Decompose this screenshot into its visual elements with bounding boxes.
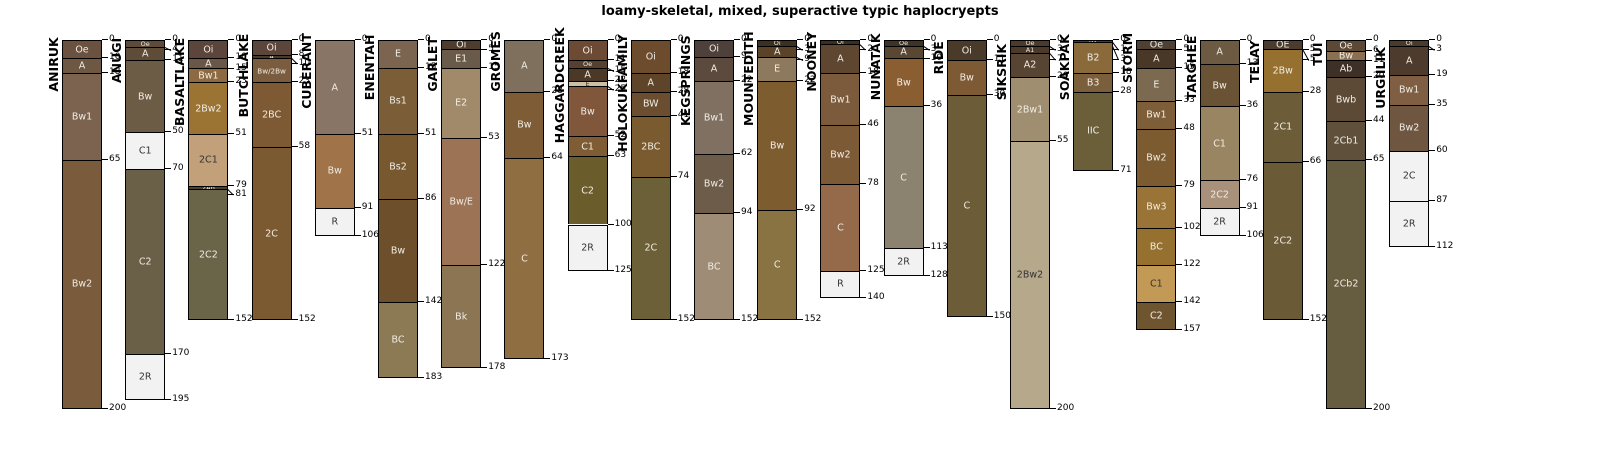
soil-horizon: Bk (441, 265, 481, 368)
depth-tick: 66 (1303, 157, 1321, 166)
depth-tick: 122 (1176, 260, 1200, 269)
horizon-label: E (758, 64, 796, 75)
soil-horizon: 2C (1389, 151, 1429, 201)
horizon-label: Oe (1327, 41, 1365, 52)
horizon-label: Oe (1137, 40, 1175, 49)
soil-horizon: R (315, 208, 355, 236)
horizon-label: C2 (126, 256, 164, 267)
soil-horizon: Bw2 (820, 125, 860, 184)
depth-tick: 70 (165, 164, 183, 173)
depth-tick: 62 (734, 149, 752, 158)
depth-tick: 150 (987, 312, 1011, 321)
horizon-label: Bw1 (1390, 85, 1428, 96)
horizon-label: 2Cb1 (1327, 136, 1365, 147)
soil-horizon: Bw1 (1136, 101, 1176, 129)
depth-tick: 71 (1113, 166, 1131, 175)
depth-tick: 36 (924, 101, 942, 110)
horizon-label: 2Bw2 (189, 103, 227, 114)
depth-tick: 128 (924, 271, 948, 280)
soil-horizon: A (631, 73, 671, 91)
depth-tick: 92 (797, 205, 815, 214)
horizon-label: Bw (758, 140, 796, 151)
profile-name-label: TUI (1310, 36, 1325, 66)
horizon-label: 2R (885, 257, 923, 268)
soil-horizon: Bw (504, 92, 544, 158)
soil-horizon: Oe (1136, 40, 1176, 49)
horizon-label: C1 (1137, 279, 1175, 290)
horizon-label: 2R (569, 242, 607, 253)
horizon-label: Bw2 (1390, 123, 1428, 134)
depth-tick: 142 (1176, 297, 1200, 306)
horizon-label: A (1137, 53, 1175, 64)
soil-horizon: C (884, 106, 924, 248)
horizon-label: A (569, 69, 607, 80)
soil-horizon: Bw2 (1389, 105, 1429, 151)
soil-horizon: 2C2 (1200, 180, 1240, 208)
soil-horizon: B3 (1073, 73, 1113, 91)
profile-name-label: KEGSPRINGS (678, 36, 693, 126)
profile-name-label: TELAY (1247, 36, 1262, 83)
soil-horizon: Bw2 (694, 154, 734, 213)
soil-horizon: 2C1 (1263, 92, 1303, 162)
soil-horizon: 2C1 (188, 134, 228, 186)
horizon-label: Oi (189, 44, 227, 55)
depth-tick: 36 (1240, 101, 1258, 110)
soil-horizon: Bw1 (188, 68, 228, 83)
soil-profile-plot: ANIRUKOeABw1Bw20101865200ANUGIOeABwC1C22… (0, 0, 1600, 450)
profile-name-label: SOAKPAK (1057, 36, 1072, 100)
depth-tick: 79 (228, 181, 246, 190)
horizon-label: Oe (569, 60, 607, 67)
horizon-label: A1 (1011, 46, 1049, 53)
soil-horizon: IIC (1073, 92, 1113, 171)
soil-horizon: Bw/E (441, 138, 481, 265)
soil-horizon: Bw2 (62, 160, 102, 409)
depth-tick: 28 (1303, 87, 1321, 96)
horizon-label: Oi (632, 52, 670, 63)
soil-horizon: 2Cb1 (1326, 121, 1366, 160)
horizon-label: Oi (695, 43, 733, 54)
horizon-label: OE (1264, 40, 1302, 49)
horizon-label: A (126, 49, 164, 60)
horizon-label: Oe (126, 40, 164, 47)
soil-horizon: B2 (1073, 42, 1113, 73)
horizon-label: C1 (569, 141, 607, 152)
depth-tick: 60 (1429, 146, 1447, 155)
soil-horizon: Bw1 (62, 73, 102, 160)
horizon-label: C (885, 172, 923, 183)
horizon-label: Bwb (1327, 94, 1365, 105)
horizon-label: Bw2 (695, 179, 733, 190)
soil-horizon: Oi (441, 40, 481, 49)
horizon-label: Bw (885, 77, 923, 88)
horizon-label: Bw2 (821, 149, 859, 160)
horizon-label: Bw (316, 166, 354, 177)
depth-tick: 53 (481, 133, 499, 142)
horizon-label: Bw (1327, 51, 1365, 60)
horizon-label: Bw (505, 120, 543, 131)
soil-horizon: Bwb (1326, 77, 1366, 121)
profile-name-label: NUNATAK (868, 36, 883, 100)
soil-horizon: 2R (1389, 201, 1429, 247)
horizon-label: 2Bw (1264, 65, 1302, 76)
soil-horizon: Bw/2Bw (252, 58, 292, 82)
depth-tick: 51 (228, 129, 246, 138)
soil-horizon: BW (631, 92, 671, 116)
soil-horizon: 2Bw (1263, 49, 1303, 91)
soil-horizon: C2 (1136, 302, 1176, 330)
horizon-label: 2R (1201, 216, 1239, 227)
depth-tick: 74 (671, 172, 689, 181)
soil-horizon: E1 (441, 49, 481, 67)
horizon-label: 2Bw2 (1011, 270, 1049, 281)
soil-horizon: Oi (947, 40, 987, 60)
horizon-label: 2R (126, 371, 164, 382)
depth-tick: 35 (1429, 100, 1447, 109)
depth-tick: 122 (481, 260, 505, 269)
profile-name-label: HOLOKUKFAMILY (615, 36, 630, 152)
depth-tick: 86 (418, 194, 436, 203)
soil-horizon: A (884, 46, 924, 59)
soil-horizon: C2 (568, 156, 608, 224)
soil-horizon: Bw2 (1136, 129, 1176, 186)
soil-horizon: 2R (884, 248, 924, 276)
horizon-label: A (821, 53, 859, 64)
depth-tick: 28 (1113, 87, 1131, 96)
depth-tick: 51 (355, 129, 373, 138)
horizon-label: Bw (948, 73, 986, 84)
soil-horizon: A (757, 46, 797, 57)
horizon-label: 2C (632, 243, 670, 254)
profile-name-label: GROMES (488, 36, 503, 92)
soil-horizon: A (62, 58, 102, 73)
horizon-label: C2 (1137, 310, 1175, 321)
depth-tick: 173 (544, 354, 568, 363)
profile-name-label: CUBERANT (299, 36, 314, 109)
horizon-label: C (505, 253, 543, 264)
soil-horizon: C1 (125, 132, 165, 169)
depth-tick: 79 (1176, 181, 1194, 190)
depth-tick: 152 (797, 315, 821, 324)
profile-name-label: ANUGI (109, 36, 124, 83)
horizon-label: Oi (948, 45, 986, 56)
horizon-label: E (1137, 79, 1175, 90)
horizon-label: R (821, 279, 859, 290)
depth-tick: 65 (1366, 155, 1384, 164)
soil-horizon: A (694, 57, 734, 81)
soil-horizon: 2BC (252, 82, 292, 147)
soil-horizon: BC (694, 213, 734, 320)
soil-horizon: 2BC (631, 116, 671, 177)
soil-horizon: C (757, 210, 797, 321)
soil-horizon: Bw (378, 199, 418, 302)
soil-horizon: Oi (568, 40, 608, 60)
depth-tick: 46 (860, 120, 878, 129)
horizon-label: C2 (569, 185, 607, 196)
soil-horizon: R (820, 271, 860, 299)
soil-horizon: C (820, 184, 860, 271)
depth-tick: 48 (1176, 124, 1194, 133)
soil-horizon: Oi (252, 40, 292, 55)
depth-tick: 87 (1429, 196, 1447, 205)
soil-horizon: Bw (315, 134, 355, 208)
horizon-label: A (1201, 47, 1239, 58)
profile-name-label: STORM (1120, 36, 1135, 83)
soil-horizon: E (378, 40, 418, 68)
horizon-label: C (758, 260, 796, 271)
horizon-label: E1 (442, 53, 480, 64)
depth-tick: 157 (1176, 325, 1200, 334)
horizon-label: Bw/E (442, 196, 480, 207)
horizon-label: Bs1 (379, 96, 417, 107)
depth-tick: 112 (1429, 242, 1453, 251)
soil-horizon: Bw1 (820, 73, 860, 125)
depth-tick: 63 (608, 151, 626, 160)
profile-name-label: BASALTLAKE (172, 36, 187, 126)
soil-horizon: Bw (947, 60, 987, 95)
soil-horizon: E2 (441, 68, 481, 138)
depth-tick: 91 (355, 203, 373, 212)
depth-tick: 125 (860, 266, 884, 275)
profile-name-label: MOUNTEDITH (741, 36, 756, 126)
horizon-label: Bw1 (1137, 110, 1175, 121)
soil-horizon: C2 (125, 169, 165, 354)
horizon-label: B2 (1074, 53, 1112, 64)
soil-horizon: 2R (125, 354, 165, 400)
soil-horizon: BC (378, 302, 418, 378)
profile-name-label: URGIILIK (1373, 36, 1388, 109)
soil-horizon: Oi (631, 40, 671, 73)
horizon-label: BC (695, 261, 733, 272)
depth-tick: 51 (418, 129, 436, 138)
depth-tick: 94 (734, 208, 752, 217)
horizon-label: Bw1 (695, 112, 733, 123)
horizon-label: Bw (569, 106, 607, 117)
horizon-label: Oi (442, 40, 480, 49)
depth-tick: 152 (292, 315, 316, 324)
depth-tick: 152 (671, 315, 695, 324)
soil-horizon: A (568, 68, 608, 81)
depth-tick: 106 (1240, 231, 1264, 240)
depth-tick: 44 (1366, 116, 1384, 125)
horizon-label: 2C (1390, 171, 1428, 182)
soil-horizon: 2Bw1 (1010, 77, 1050, 142)
horizon-label: Ab (1327, 64, 1365, 75)
soil-horizon: Bw (568, 86, 608, 136)
horizon-label: Bw1 (821, 94, 859, 105)
depth-tick: 142 (418, 297, 442, 306)
soil-horizon: A (1136, 49, 1176, 67)
horizon-label: 2Bw1 (1011, 104, 1049, 115)
horizon-label: Bk (442, 311, 480, 322)
horizon-label: Bw (379, 245, 417, 256)
soil-horizon: 2C (252, 147, 292, 320)
depth-tick: 0 (1429, 35, 1442, 44)
depth-tick: 125 (608, 266, 632, 275)
horizon-label: A2 (1011, 60, 1049, 71)
soil-horizon: A (188, 58, 228, 67)
depth-tick: 200 (1366, 404, 1390, 413)
soil-horizon: A (315, 40, 355, 134)
depth-tick: 58 (292, 142, 310, 151)
horizon-label: E2 (442, 98, 480, 109)
profile-name-label: BUTCHLAKE (236, 36, 251, 117)
soil-horizon: A (125, 47, 165, 60)
horizon-label: R (316, 216, 354, 227)
horizon-label: C (821, 222, 859, 233)
soil-horizon: 2R (568, 225, 608, 271)
depth-tick: 178 (481, 363, 505, 372)
horizon-label: Bs2 (379, 161, 417, 172)
depth-tick: 50 (165, 127, 183, 136)
soil-horizon: Bw3 (1136, 186, 1176, 228)
depth-tick: 183 (418, 373, 442, 382)
soil-horizon: Bw1 (1389, 75, 1429, 105)
horizon-label: Bw (126, 91, 164, 102)
horizon-label: Bw2 (63, 279, 101, 290)
profile-name-label: ANIRUK (46, 36, 61, 92)
horizon-label: 2C1 (189, 155, 227, 166)
soil-horizon: Oe (568, 60, 608, 67)
horizon-label: A (505, 61, 543, 72)
horizon-label: A (758, 46, 796, 57)
depth-tick: 200 (1050, 404, 1074, 413)
horizon-label: C (948, 201, 986, 212)
horizon-label: BC (1137, 242, 1175, 253)
depth-tick: 113 (924, 243, 948, 252)
soil-horizon: Oe (62, 40, 102, 58)
profile-name-label: GARLET (425, 36, 440, 92)
soil-horizon: C (504, 158, 544, 359)
soil-horizon: Bw (1200, 64, 1240, 106)
depth-tick: 195 (165, 395, 189, 404)
soil-horizon: Oe (125, 40, 165, 47)
horizon-label: Oi (569, 45, 607, 56)
horizon-label: A (189, 58, 227, 67)
horizon-label: Bw/2Bw (253, 66, 291, 75)
profile-name-label: HAGGARDCREEK (552, 36, 567, 143)
soil-horizon: Oi (188, 40, 228, 58)
soil-horizon: 2R (1200, 208, 1240, 236)
depth-tick: 19 (1429, 70, 1447, 79)
depth-tick: 65 (102, 155, 120, 164)
soil-horizon: 2Bw2 (1010, 141, 1050, 409)
soil-horizon: BC (1136, 228, 1176, 265)
soil-horizon: C1 (1136, 265, 1176, 302)
horizon-label: E (379, 49, 417, 60)
depth-tick: 152 (734, 315, 758, 324)
soil-horizon: 2Cb2 (1326, 160, 1366, 409)
horizon-label: 2C2 (1264, 236, 1302, 247)
horizon-label: 2C2 (189, 249, 227, 260)
horizon-label: 2R (1390, 218, 1428, 229)
horizon-label: Oi (253, 42, 291, 53)
horizon-label: 2BC (253, 110, 291, 121)
horizon-label: 2C1 (1264, 122, 1302, 133)
soil-horizon: A (504, 40, 544, 92)
soil-horizon: A (1389, 46, 1429, 76)
soil-horizon: OE (1263, 40, 1303, 49)
soil-horizon: 2C (631, 177, 671, 321)
horizon-label: A (632, 77, 670, 88)
soil-horizon: C (947, 95, 987, 316)
soil-horizon: Bw (884, 58, 924, 106)
soil-horizon: Bw1 (694, 81, 734, 155)
horizon-label: A (695, 64, 733, 75)
soil-horizon: Bw (757, 81, 797, 210)
horizon-label: A (316, 82, 354, 93)
depth-tick: 152 (1303, 315, 1327, 324)
soil-horizon: A (820, 44, 860, 74)
soil-horizon: 2C2 (1263, 162, 1303, 321)
horizon-label: BC (379, 334, 417, 345)
horizon-label: IIC (1074, 126, 1112, 137)
depth-tick: 64 (544, 153, 562, 162)
soil-horizon: E (1136, 68, 1176, 101)
soil-horizon: A (1200, 40, 1240, 64)
horizon-label: Bw (1201, 80, 1239, 91)
horizon-label: Bw3 (1137, 202, 1175, 213)
soil-horizon: Oi (694, 40, 734, 57)
profile-name-label: RIDE (931, 36, 946, 74)
horizon-label: 2BC (632, 141, 670, 152)
soil-horizon: Bw (125, 60, 165, 132)
horizon-label: Bw1 (189, 70, 227, 81)
horizon-label: A (885, 47, 923, 58)
soil-horizon: Oe (1326, 40, 1366, 51)
soil-horizon: Bw (1326, 51, 1366, 60)
horizon-label: C1 (126, 146, 164, 157)
horizon-label: A (1390, 55, 1428, 66)
horizon-label: 2Cb2 (1327, 279, 1365, 290)
soil-horizon: A2 (1010, 53, 1050, 77)
soil-horizon: Bs2 (378, 134, 418, 199)
depth-tick: 55 (1050, 136, 1068, 145)
soil-horizon: 2C2 (188, 189, 228, 320)
horizon-label: Oe (63, 44, 101, 55)
horizon-label: Bw1 (63, 112, 101, 123)
profile-name-label: SIKSRIK (994, 36, 1009, 100)
horizon-label: BW (632, 99, 670, 110)
depth-tick: 78 (860, 179, 878, 188)
horizon-label: 2C (253, 228, 291, 239)
profile-name-label: ENENTAH (362, 36, 377, 100)
soil-horizon: C1 (568, 136, 608, 156)
depth-tick: 91 (1240, 203, 1258, 212)
depth-tick: 170 (165, 349, 189, 358)
soil-horizon: 2Bw2 (188, 82, 228, 134)
horizon-label: B3 (1074, 77, 1112, 88)
depth-tick: 102 (1176, 223, 1200, 232)
horizon-label: 2C2 (1201, 189, 1239, 200)
soil-horizon: E (757, 57, 797, 81)
horizon-label: Bw2 (1137, 152, 1175, 163)
soil-horizon: Bs1 (378, 68, 418, 134)
soil-horizon: Ab (1326, 60, 1366, 77)
depth-tick: 152 (228, 315, 252, 324)
soil-horizon: C1 (1200, 106, 1240, 180)
depth-tick: 76 (1240, 175, 1258, 184)
depth-tick: 100 (608, 220, 632, 229)
profile-name-label: NOONEY (804, 36, 819, 92)
horizon-label: A (63, 61, 101, 72)
depth-tick: 200 (102, 404, 126, 413)
depth-tick: 140 (860, 293, 884, 302)
profile-name-label: TARGHEE (1184, 36, 1199, 100)
horizon-label: C1 (1201, 138, 1239, 149)
soil-horizon: A1 (1010, 46, 1050, 53)
depth-tick: 106 (355, 231, 379, 240)
